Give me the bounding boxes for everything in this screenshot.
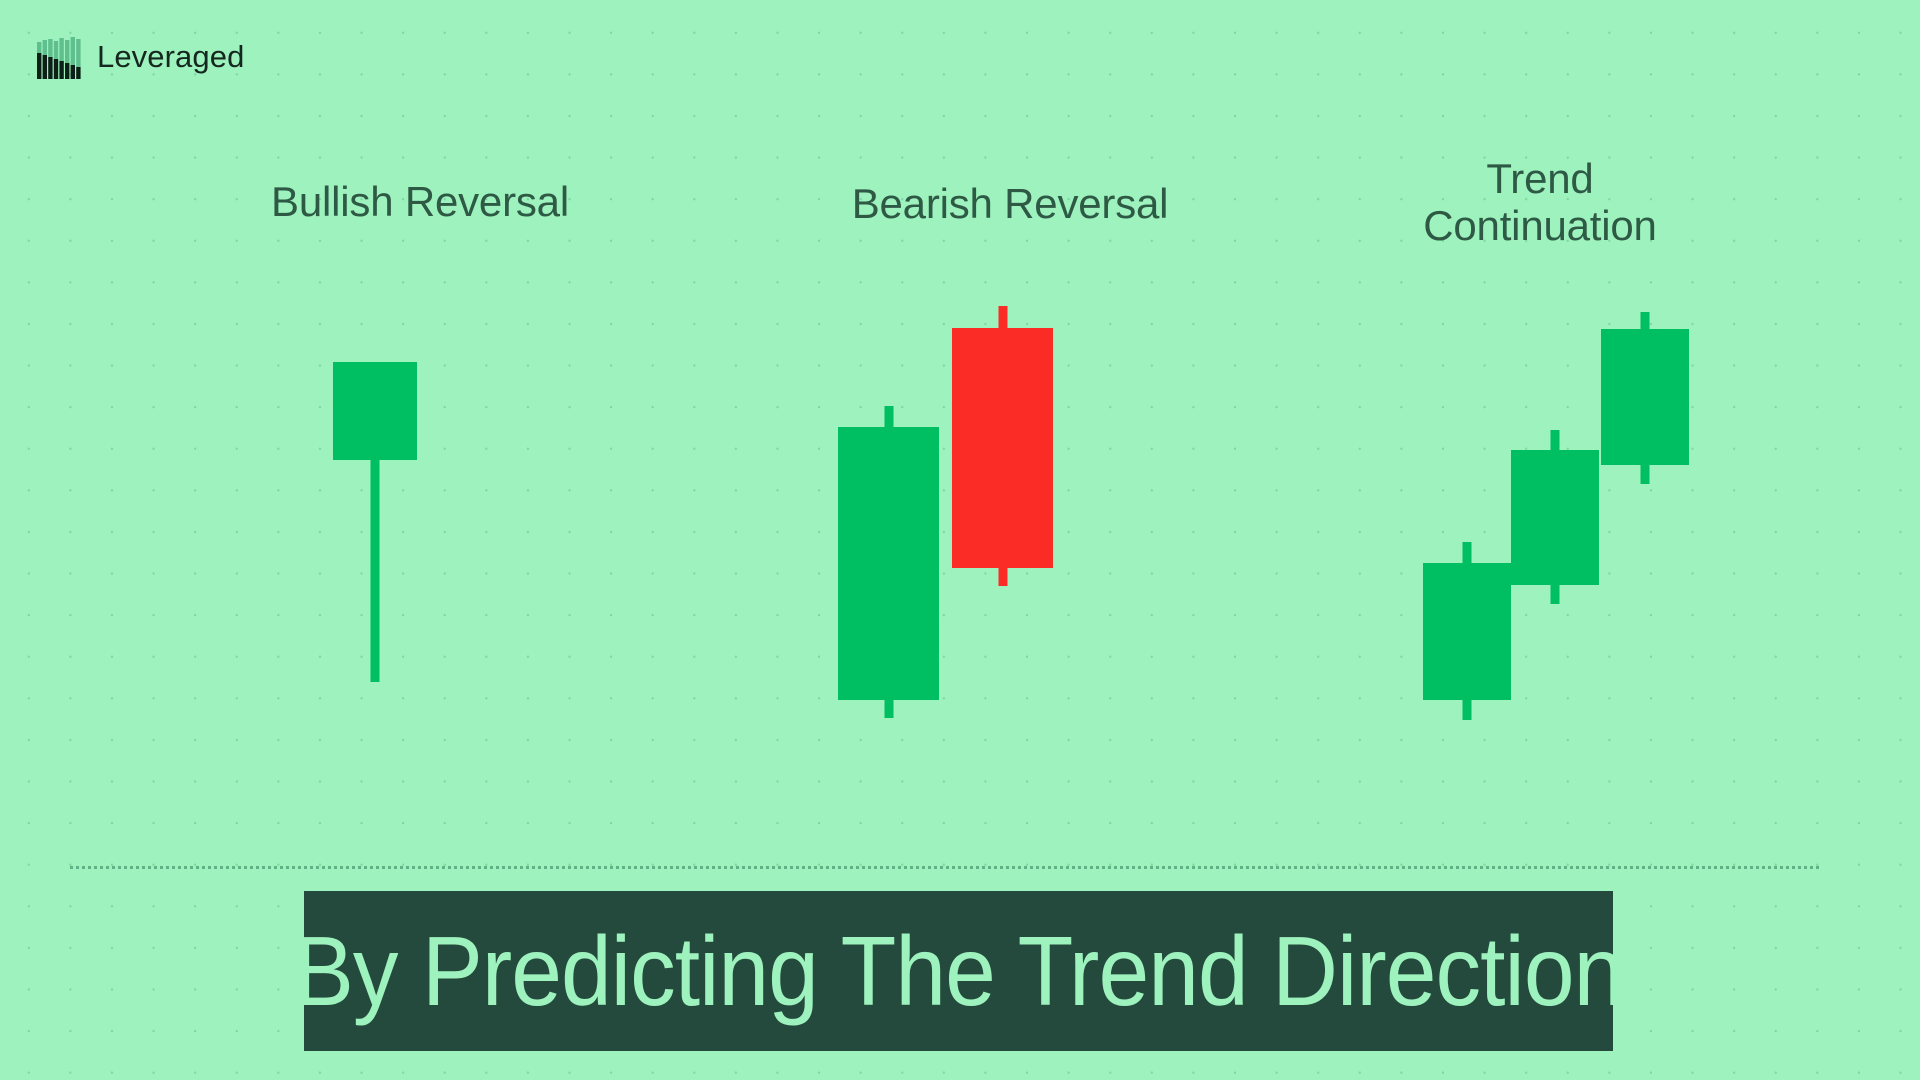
candle-bearish-engulfing-2 xyxy=(952,306,1053,586)
candle-body xyxy=(333,362,417,460)
headline-text: By Predicting The Trend Direction xyxy=(304,922,1613,1020)
poster-canvas: Leveraged Bullish Reversal Bearish Rever… xyxy=(0,0,1920,1080)
headline-banner: By Predicting The Trend Direction xyxy=(304,891,1613,1051)
brand-logo[interactable]: Leveraged xyxy=(36,33,244,80)
candle-three-white-soldiers-3 xyxy=(1601,312,1689,484)
brand-name-label: Leveraged xyxy=(97,41,244,72)
candle-hammer-1 xyxy=(333,362,417,682)
candle-body xyxy=(952,328,1053,568)
candle-bearish-engulfing-1 xyxy=(838,406,939,718)
candle-body xyxy=(1511,450,1599,585)
candle-body xyxy=(838,427,939,700)
candle-three-white-soldiers-2 xyxy=(1511,430,1599,604)
section-divider xyxy=(70,866,1820,869)
candle-body xyxy=(1601,329,1689,465)
candle-three-white-soldiers-1 xyxy=(1423,542,1511,720)
section-caption-bullish-reversal: Bullish Reversal xyxy=(110,178,730,225)
candlestick-bars-logo-icon xyxy=(36,33,84,80)
section-caption-trend-continuation: Trend Continuation xyxy=(1230,155,1850,249)
candle-body xyxy=(1423,563,1511,700)
